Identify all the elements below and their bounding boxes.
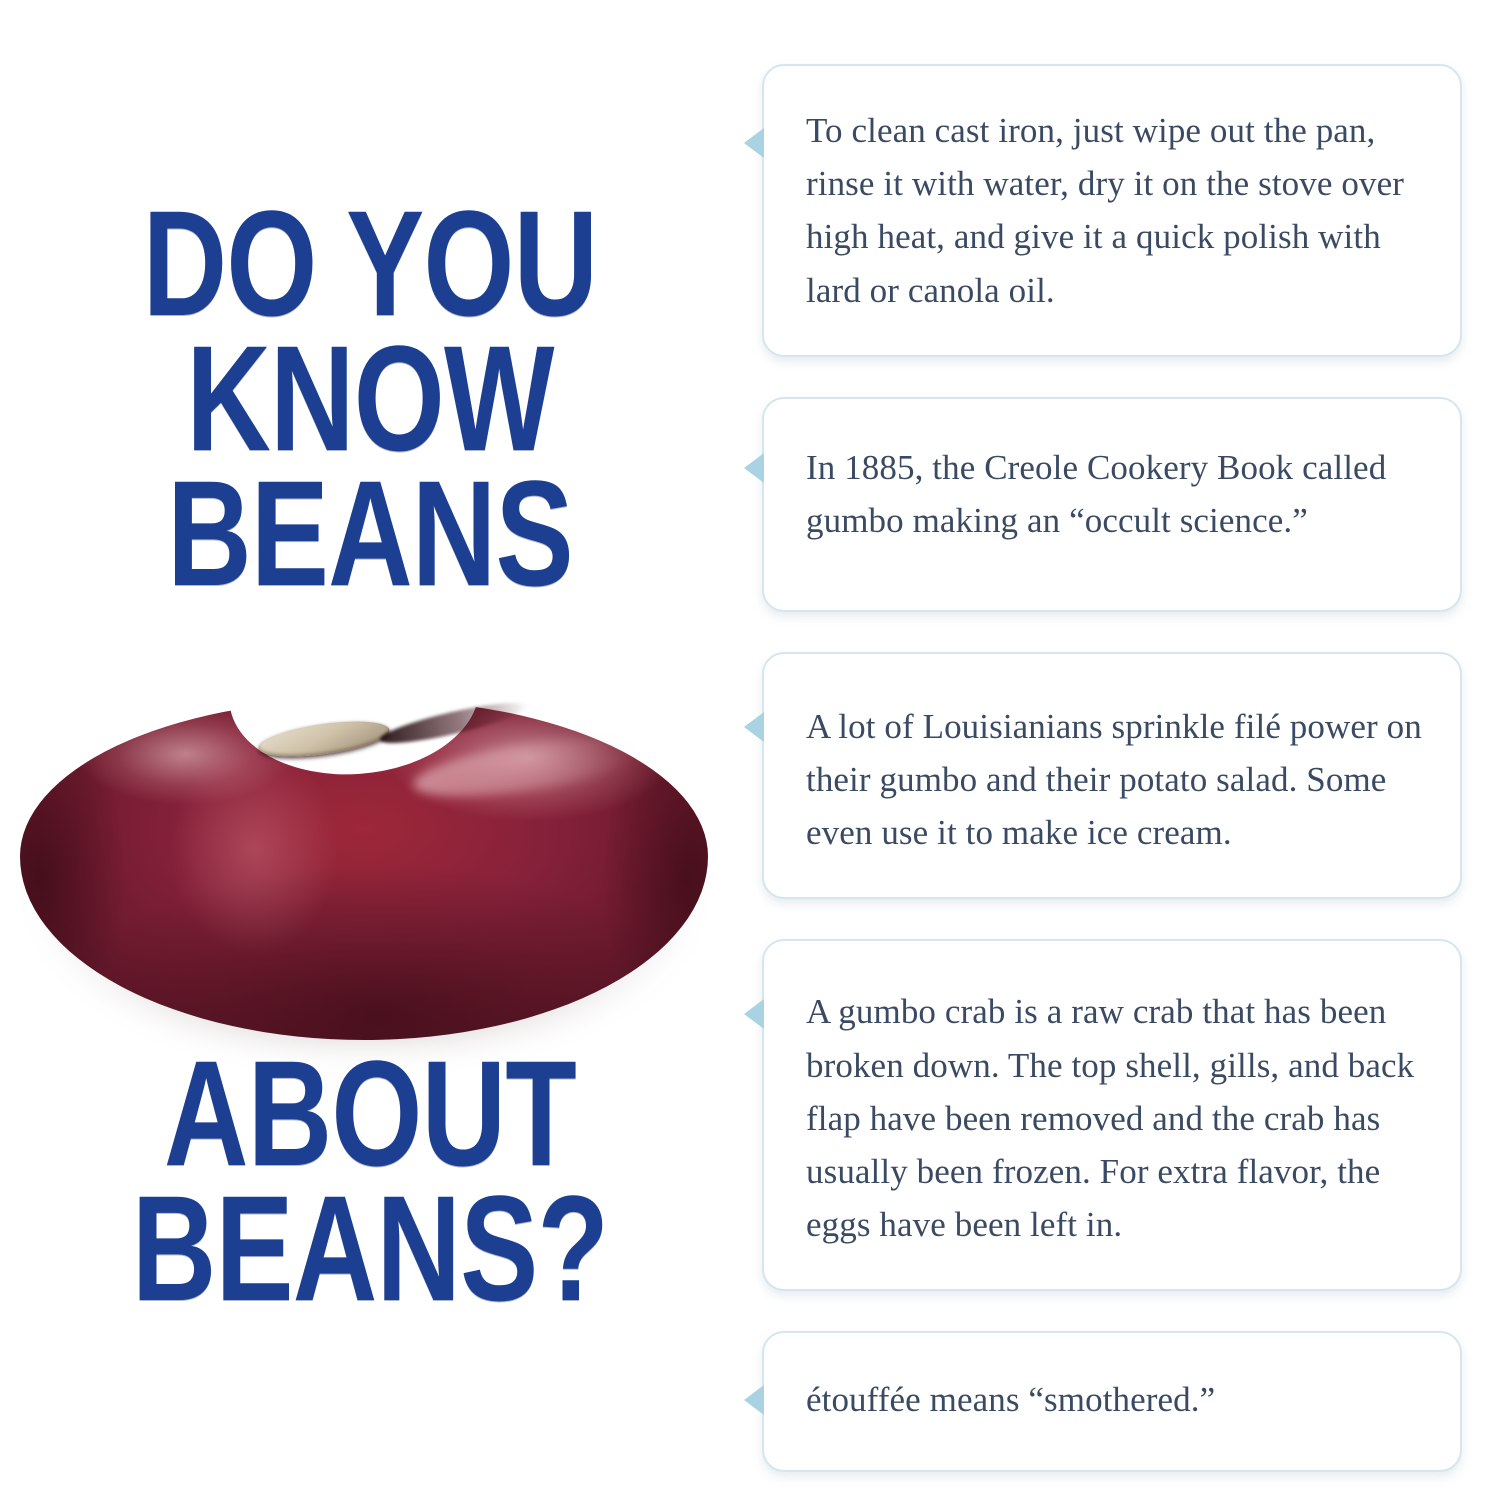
headline-line-know: KNOW [81, 331, 658, 466]
fact-text: A lot of Louisianians sprinkle filé powe… [806, 700, 1426, 860]
bean-illustration [12, 686, 712, 1056]
headline-line-about: ABOUT [81, 1046, 658, 1181]
bubble-tail-icon [744, 128, 764, 158]
fact-bubble-gumbo-crab: A gumbo crab is a raw crab that has been… [762, 939, 1462, 1291]
headline-bottom-block: ABOUT BEANS? [0, 1046, 740, 1316]
headline-top-block: DO YOU KNOW BEANS [0, 196, 740, 601]
fact-bubble-cast-iron: To clean cast iron, just wipe out the pa… [762, 64, 1462, 357]
headline-line-beans-question: BEANS? [81, 1181, 658, 1316]
fact-text: étouffée means “smothered.” [806, 1373, 1426, 1426]
headline-line-beans: BEANS [81, 466, 658, 601]
bubble-tail-icon [744, 1385, 764, 1415]
left-panel: DO YOU KNOW BEANS ABOUT BEANS? [0, 0, 740, 1500]
bubble-tail-icon [744, 999, 764, 1029]
fact-bubble-list: To clean cast iron, just wipe out the pa… [762, 64, 1462, 1500]
infographic-poster: DO YOU KNOW BEANS ABOUT BEANS? To clean … [0, 0, 1500, 1500]
bubble-tail-icon [744, 453, 764, 483]
fact-text: In 1885, the Creole Cookery Book called … [806, 441, 1426, 547]
fact-text: A gumbo crab is a raw crab that has been… [806, 985, 1426, 1251]
fact-bubble-etouffee: étouffée means “smothered.” [762, 1331, 1462, 1472]
fact-bubble-file-powder: A lot of Louisianians sprinkle filé powe… [762, 652, 1462, 900]
headline-line-do-you: DO YOU [81, 196, 658, 331]
fact-text: To clean cast iron, just wipe out the pa… [806, 104, 1426, 317]
fact-bubble-creole-cookery-book: In 1885, the Creole Cookery Book called … [762, 397, 1462, 612]
bubble-tail-icon [744, 712, 764, 742]
